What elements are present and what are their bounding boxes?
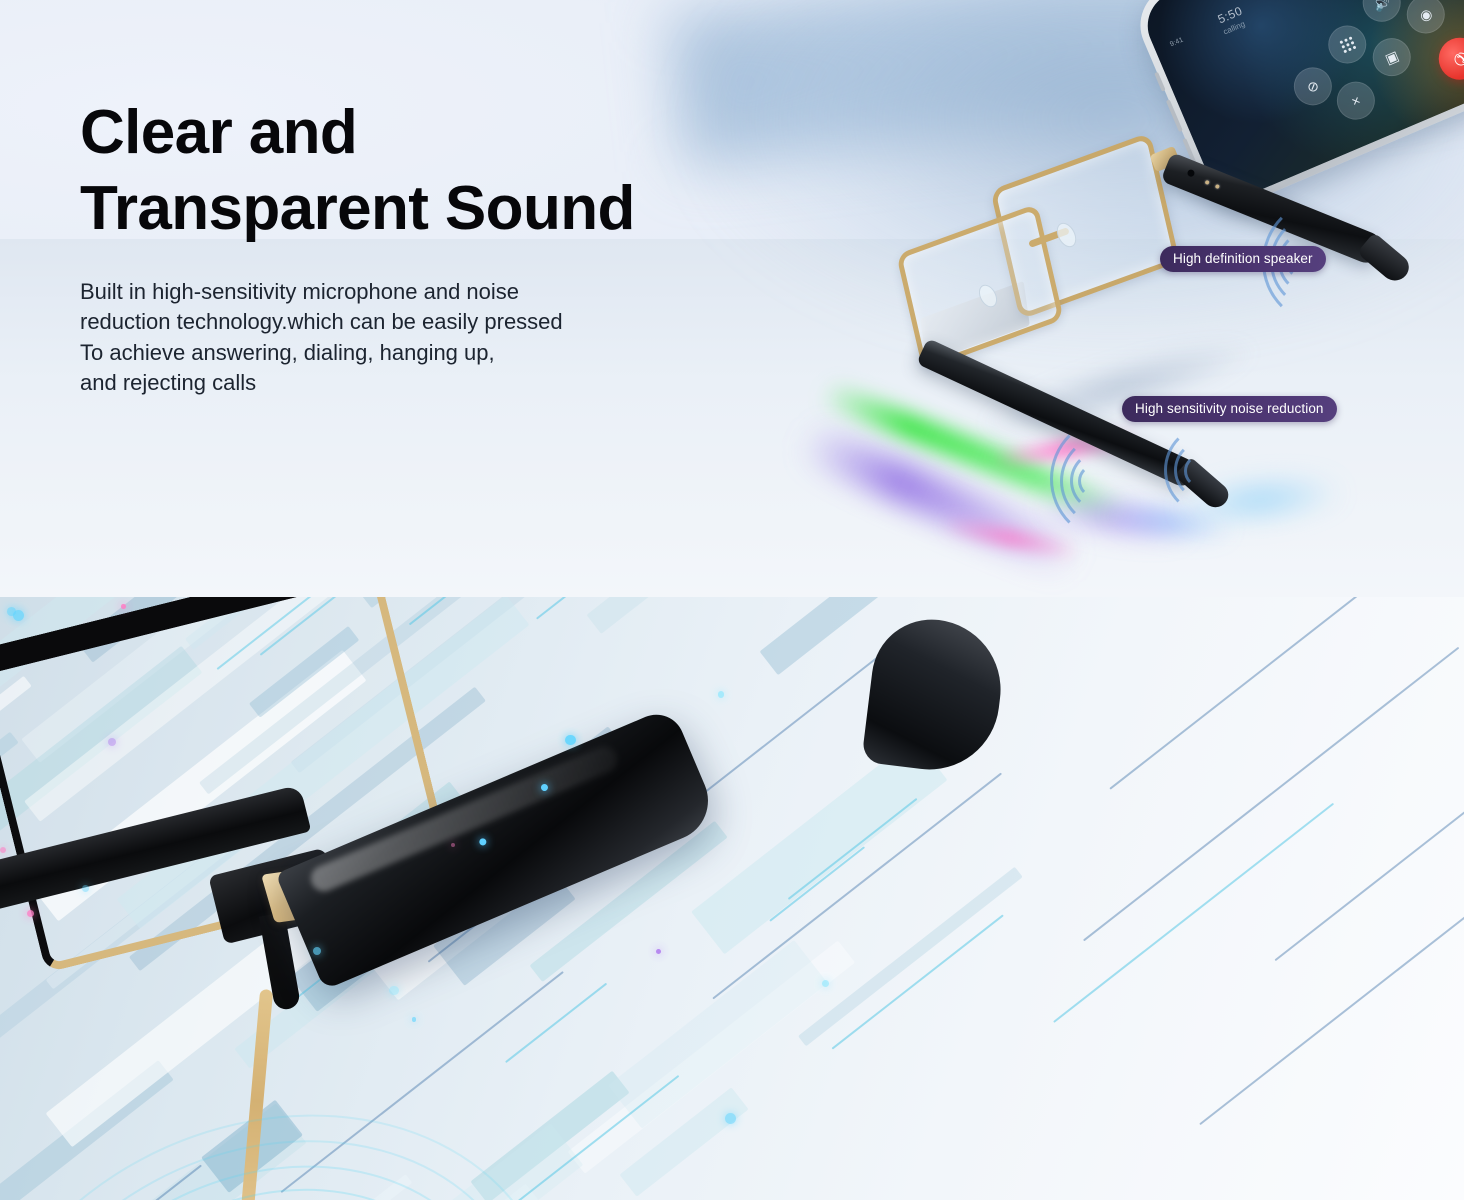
- background-accent-line: [831, 914, 1003, 1049]
- light-speck-icon: [13, 610, 24, 621]
- light-speck-icon: [389, 986, 399, 996]
- background-accent-line: [1053, 803, 1333, 1022]
- call-keypad-button[interactable]: [1322, 20, 1372, 70]
- background-accent-line: [505, 983, 607, 1063]
- call-mute-button[interactable]: ⊘: [1288, 61, 1338, 111]
- contacts-icon: ◉: [1417, 4, 1435, 24]
- call-speaker-button[interactable]: 🔊: [1357, 0, 1407, 28]
- call-contacts-button[interactable]: ◉: [1401, 0, 1451, 39]
- body-line-1: Built in high-sensitivity microphone and…: [80, 277, 800, 307]
- phone-handset-icon: ✆: [1448, 49, 1464, 69]
- section-clear-sound: 9:41 5:50 calling ⊘ 🔊 × ▣: [0, 0, 1464, 597]
- section-clear-sound-body: Built in high-sensitivity microphone and…: [80, 277, 800, 398]
- body-line-2: reduction technology.which can be easily…: [80, 307, 800, 337]
- temple-led-icon-1: [478, 837, 487, 846]
- heading-line-1: Clear and: [80, 95, 840, 171]
- background-accent-line: [1083, 647, 1459, 941]
- light-speck-icon: [412, 1017, 417, 1022]
- badge-high-sensitivity-noise-reduction: High sensitivity noise reduction: [1122, 396, 1337, 422]
- background-bar: [587, 597, 749, 634]
- section-clear-sound-heading: Clear and Transparent Sound: [80, 95, 840, 246]
- phone-status-bar: 9:41: [1169, 37, 1184, 49]
- keypad-icon: [1339, 36, 1356, 53]
- call-facetime-button[interactable]: ▣: [1367, 32, 1417, 82]
- light-speck-icon: [822, 980, 829, 987]
- add-call-icon: ×: [1349, 92, 1363, 110]
- section-intelligent-control: Intelligent Control, One Touch With touc…: [0, 597, 1464, 1200]
- light-speck-icon: [725, 1113, 736, 1124]
- light-speck-icon: [121, 604, 126, 609]
- heading-line-2: Transparent Sound: [80, 171, 840, 247]
- mute-icon: ⊘: [1304, 76, 1321, 96]
- light-speck-icon: [82, 885, 89, 892]
- body-line-3: To achieve answering, dialing, hanging u…: [80, 338, 800, 368]
- charging-contacts-icon: [1205, 180, 1220, 189]
- facetime-icon: ▣: [1382, 47, 1401, 68]
- speaker-icon: 🔊: [1370, 0, 1393, 14]
- badge-high-definition-speaker: High definition speaker: [1160, 246, 1326, 272]
- end-call-button[interactable]: ✆: [1432, 31, 1464, 86]
- light-speck-icon: [0, 847, 6, 853]
- microphone-port-icon: [1186, 169, 1195, 178]
- glasses-bottom: [0, 597, 420, 927]
- call-add-button[interactable]: ×: [1331, 76, 1381, 126]
- body-line-4: and rejecting calls: [80, 368, 800, 398]
- product-feature-page: 9:41 5:50 calling ⊘ 🔊 × ▣: [0, 0, 1464, 1200]
- background-accent-line: [1199, 841, 1464, 1125]
